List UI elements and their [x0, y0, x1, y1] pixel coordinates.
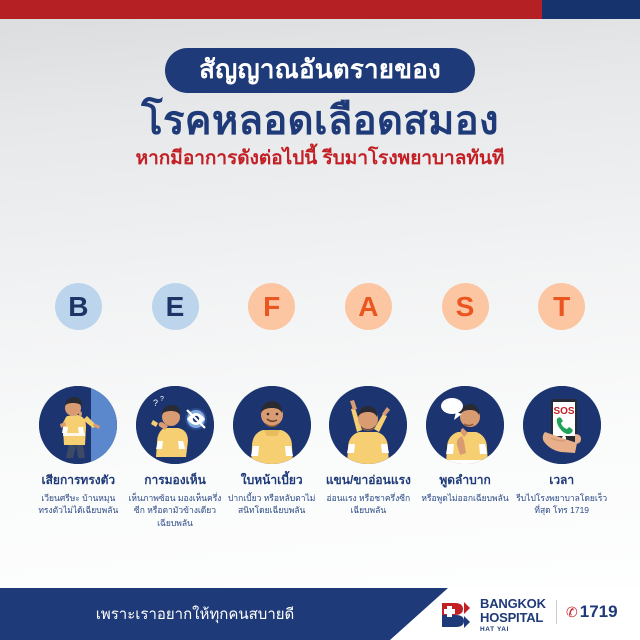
hotline-number: 1719: [580, 602, 618, 622]
acronym-cell: S: [417, 283, 514, 330]
symptom-title: พูดลำบาก: [439, 473, 490, 488]
person-speech-difficulty-icon: [426, 386, 504, 464]
symptom-description: หรือพูดไม่ออกเฉียบพลัน: [417, 492, 513, 504]
bangkok-hospital-logo-icon: [440, 600, 474, 630]
acronym-cell: A: [320, 283, 417, 330]
symptom-card-vision: ? ? การมองเห็น เห็นภาพซ้อน มองเห็นครึ่งซ…: [127, 386, 224, 529]
acronym-row: B E F A S T: [30, 283, 610, 330]
person-blurred-vision-icon: ? ?: [136, 386, 214, 464]
svg-text:?: ?: [153, 398, 158, 408]
header-block: สัญญาณอันตรายของ โรคหลอดเลือดสมอง หากมีอ…: [0, 48, 640, 171]
symptom-title: แขน/ขาอ่อนแรง: [326, 473, 411, 488]
phone-icon: ✆: [566, 604, 578, 621]
brand-location: HAT YAI: [480, 627, 546, 634]
acronym-letter-f: F: [248, 283, 295, 330]
symptom-title: เวลา: [549, 473, 574, 488]
symptom-description: เห็นภาพซ้อน มองเห็นครึ่งซีก หรือตามัวข้า…: [127, 492, 223, 529]
brand-lockup: BANGKOK HOSPITAL HAT YAI: [440, 597, 546, 634]
acronym-cell: B: [30, 283, 127, 330]
footer-divider: [556, 600, 557, 624]
top-bar-red-segment: [0, 0, 542, 19]
symptom-card-time: SOS เวลา รีบไปโรงพยาบาลโดยเร็วที่สุด โทร…: [513, 386, 610, 529]
page-subtitle: หากมีอาการดังต่อไปนี้ รีบมาโรงพยาบาลทันท…: [0, 148, 640, 171]
brand-line-1: BANGKOK: [480, 597, 546, 610]
sos-label: SOS: [553, 406, 574, 417]
acronym-letter-s: S: [442, 283, 489, 330]
footer-slogan: เพราะเราอยากให้ทุกคนสบายดี: [0, 588, 390, 640]
symptom-card-speech: พูดลำบาก หรือพูดไม่ออกเฉียบพลัน: [417, 386, 514, 529]
acronym-letter-t: T: [538, 283, 585, 330]
symptom-description: เวียนศรีษะ บ้านหมุน ทรงตัวไม่ได้เฉียบพลั…: [30, 492, 126, 517]
symptom-description: ปากเบี้ยว หรือหลับตาไม่สนิทโดยเฉียบพลัน: [224, 492, 320, 517]
hand-phone-sos-icon: SOS: [523, 386, 601, 464]
symptom-title: ใบหน้าเบี้ยว: [241, 473, 303, 488]
brand-text: BANGKOK HOSPITAL HAT YAI: [480, 597, 546, 634]
symptom-description: รีบไปโรงพยาบาลโดยเร็วที่สุด โทร 1719: [514, 492, 610, 517]
person-face-drooping-icon: [233, 386, 311, 464]
hotline-block[interactable]: ✆ 1719: [566, 602, 618, 622]
acronym-cell: F: [223, 283, 320, 330]
symptom-title: การมองเห็น: [144, 473, 206, 488]
acronym-cell: T: [513, 283, 610, 330]
acronym-letter-a: A: [345, 283, 392, 330]
symptom-card-face: ใบหน้าเบี้ยว ปากเบี้ยว หรือหลับตาไม่สนิท…: [223, 386, 320, 529]
person-losing-balance-icon: [39, 386, 117, 464]
top-bar-blue-segment: [542, 0, 640, 19]
acronym-letter-b: B: [55, 283, 102, 330]
acronym-letter-e: E: [152, 283, 199, 330]
symptom-description: อ่อนแรง หรือชาครึ่งซีกเฉียบพลัน: [320, 492, 416, 517]
header-badge: สัญญาณอันตรายของ: [165, 48, 475, 93]
symptom-card-balance: เสียการทรงตัว เวียนศรีษะ บ้านหมุน ทรงตัว…: [30, 386, 127, 529]
symptom-card-arm-weakness: แขน/ขาอ่อนแรง อ่อนแรง หรือชาครึ่งซีกเฉีย…: [320, 386, 417, 529]
infographic-poster: สัญญาณอันตรายของ โรคหลอดเลือดสมอง หากมีอ…: [0, 0, 640, 640]
acronym-cell: E: [127, 283, 224, 330]
page-title: โรคหลอดเลือดสมอง: [0, 99, 640, 144]
symptom-cards-row: เสียการทรงตัว เวียนศรีษะ บ้านหมุน ทรงตัว…: [30, 386, 610, 529]
brand-line-2: HOSPITAL: [480, 611, 546, 624]
top-color-bar: [0, 0, 640, 19]
footer: เพราะเราอยากให้ทุกคนสบายดี BANGKOK HOSPI…: [0, 588, 640, 640]
person-arm-weakness-icon: [329, 386, 407, 464]
svg-text:?: ?: [160, 396, 164, 403]
symptom-title: เสียการทรงตัว: [42, 473, 116, 488]
